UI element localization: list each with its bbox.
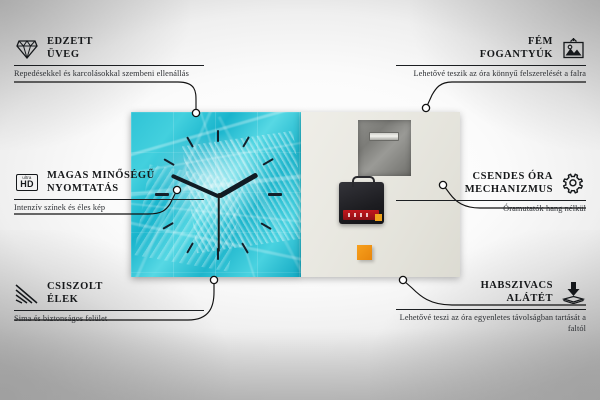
feature-header: HABSZIVACSALÁTÉT xyxy=(396,280,586,306)
hotspot-edges xyxy=(210,276,217,283)
battery-terminal xyxy=(375,214,382,221)
feature-foam-spacer: HABSZIVACSALÁTÉT Lehetővé teszi az óra e… xyxy=(396,280,586,335)
feature-header: EDZETTÜVEG xyxy=(14,36,204,62)
clock-mechanism-module xyxy=(339,182,384,224)
picture-hanger-icon xyxy=(560,37,586,61)
feature-high-quality-print: ultra HD MAGAS MINŐSÉGŰNYOMTATÁS Intenzí… xyxy=(14,170,204,214)
feature-description: Sima és biztonságos felület xyxy=(14,314,204,325)
feature-divider xyxy=(14,199,204,201)
hotspot-handles xyxy=(422,104,429,111)
foam-spacer-arrow-icon xyxy=(560,281,586,305)
feature-tempered-glass: EDZETTÜVEG Repedésekkel és karcolásokkal… xyxy=(14,36,204,80)
foam-spacer-pad xyxy=(357,245,372,260)
mechanism-hook xyxy=(352,176,375,187)
feature-title: CSENDES ÓRAMECHANIZMUS xyxy=(465,171,553,197)
feature-divider xyxy=(396,200,586,202)
infographic-canvas: EDZETTÜVEG Repedésekkel és karcolásokkal… xyxy=(0,0,600,400)
feature-description: Repedésekkel és karcolásokkal szembeni e… xyxy=(14,69,204,80)
feature-description: Lehetővé teszi az óra egyenletes távolsá… xyxy=(396,313,586,335)
polished-edges-icon xyxy=(14,282,40,306)
diamond-icon xyxy=(14,37,40,61)
clock-center-pivot xyxy=(217,193,222,198)
second-hand xyxy=(218,196,220,252)
hour-mark xyxy=(268,193,282,196)
feature-header: CSISZOLTÉLEK xyxy=(14,281,204,307)
connector-glass xyxy=(14,82,196,112)
hanger-slot xyxy=(369,132,399,141)
feature-silent-mechanism: CSENDES ÓRAMECHANIZMUS Óramutatók hang n… xyxy=(396,171,586,215)
feature-description: Intenzív színek és éles kép xyxy=(14,203,204,214)
battery-label xyxy=(343,210,379,220)
feature-header: CSENDES ÓRAMECHANIZMUS xyxy=(396,171,586,197)
feature-title: CSISZOLTÉLEK xyxy=(47,281,103,307)
gear-icon xyxy=(560,172,586,196)
feature-title: FÉMFOGANTYÚK xyxy=(480,36,553,62)
feature-header: ultra HD MAGAS MINŐSÉGŰNYOMTATÁS xyxy=(14,170,204,196)
feature-divider xyxy=(14,65,204,67)
feature-divider xyxy=(14,310,204,312)
feature-divider xyxy=(396,65,586,67)
feature-header: FÉMFOGANTYÚK xyxy=(396,36,586,62)
vignette-bottom xyxy=(0,328,600,400)
metal-hanger-plate xyxy=(358,120,411,176)
feature-description: Lehetővé teszik az óra könnyű felszerelé… xyxy=(396,69,586,80)
ultra-hd-badge-icon: ultra HD xyxy=(14,171,40,195)
feature-title: EDZETTÜVEG xyxy=(47,36,93,62)
feature-metal-handles: FÉMFOGANTYÚK Lehetővé teszik az óra könn… xyxy=(396,36,586,80)
feature-title: MAGAS MINŐSÉGŰNYOMTATÁS xyxy=(47,170,155,196)
feature-polished-edges: CSISZOLTÉLEK Sima és biztonságos felület xyxy=(14,281,204,325)
connector-handles xyxy=(427,82,586,106)
feature-description: Óramutatók hang nélkül xyxy=(396,204,586,215)
feature-divider xyxy=(396,309,586,311)
feature-title: HABSZIVACSALÁTÉT xyxy=(481,280,553,306)
